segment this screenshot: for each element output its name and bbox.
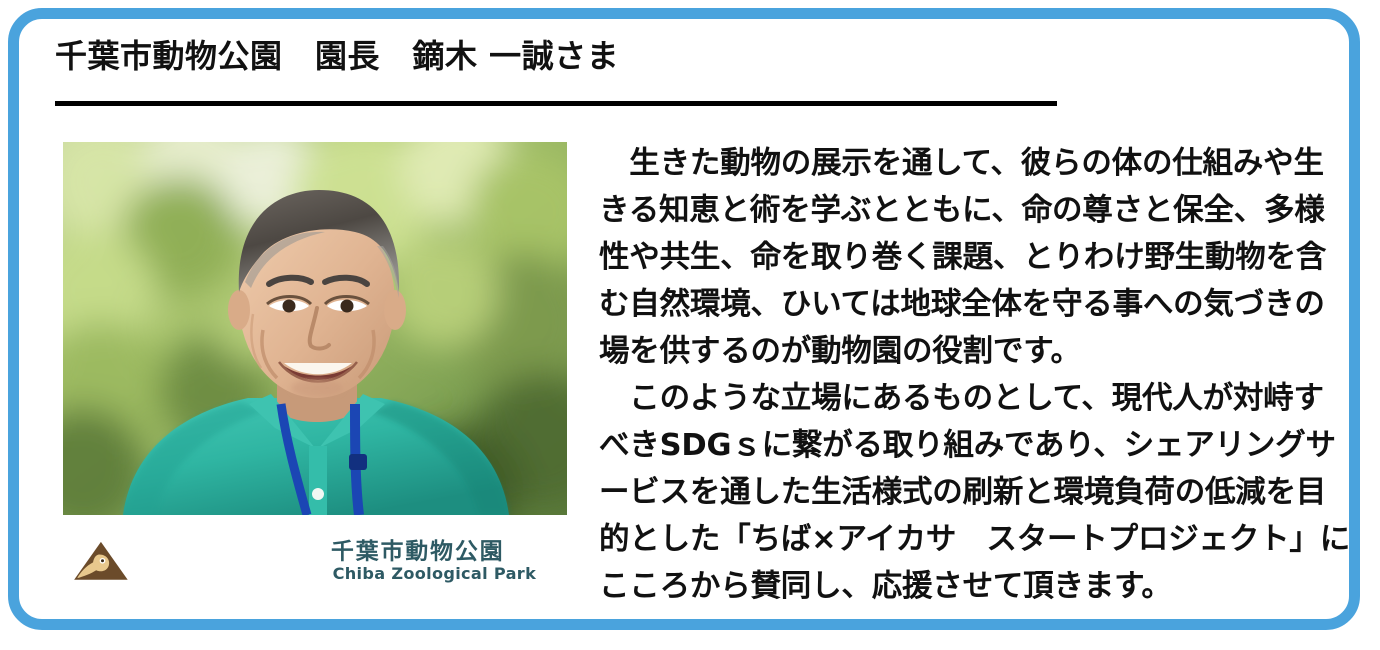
testimonial-paragraph-1: 生きた動物の展示を通して、彼らの体の仕組みや生きる知恵と術を学ぶとともに、命の尊… [599,140,1351,375]
page-title: 千葉市動物公園 園長 鏑木 一誠さま [55,37,1325,75]
testimonial-text-column: 生きた動物の展示を通して、彼らの体の仕組みや生きる知恵と術を学ぶとともに、命の尊… [599,140,1351,610]
chiba-zoo-triangle-lesser-panda-icon [71,529,339,591]
media-column: 千葉市動物公園 Chiba Zoological Park [63,142,567,591]
logo-english-name: Chiba Zoological Park [332,564,537,583]
logo-japanese-name: 千葉市動物公園 [331,538,505,565]
chiba-zoo-logo: 千葉市動物公園 Chiba Zoological Park [63,529,567,591]
testimonial-paragraph-2: このような立場にあるものとして、現代人が対峙すべきSDGｓに繋がる取り組みであり… [599,375,1351,610]
chiba-zoo-logo-wordmark: 千葉市動物公園 Chiba Zoological Park [331,529,567,591]
testimonial-card: 千葉市動物公園 園長 鏑木 一誠さま [8,8,1360,630]
card-body: 千葉市動物公園 Chiba Zoological Park 生きた動物の展示を通… [19,124,1349,619]
portrait-photo [63,142,567,515]
card-header: 千葉市動物公園 園長 鏑木 一誠さま [55,37,1325,75]
title-divider [55,101,1057,106]
